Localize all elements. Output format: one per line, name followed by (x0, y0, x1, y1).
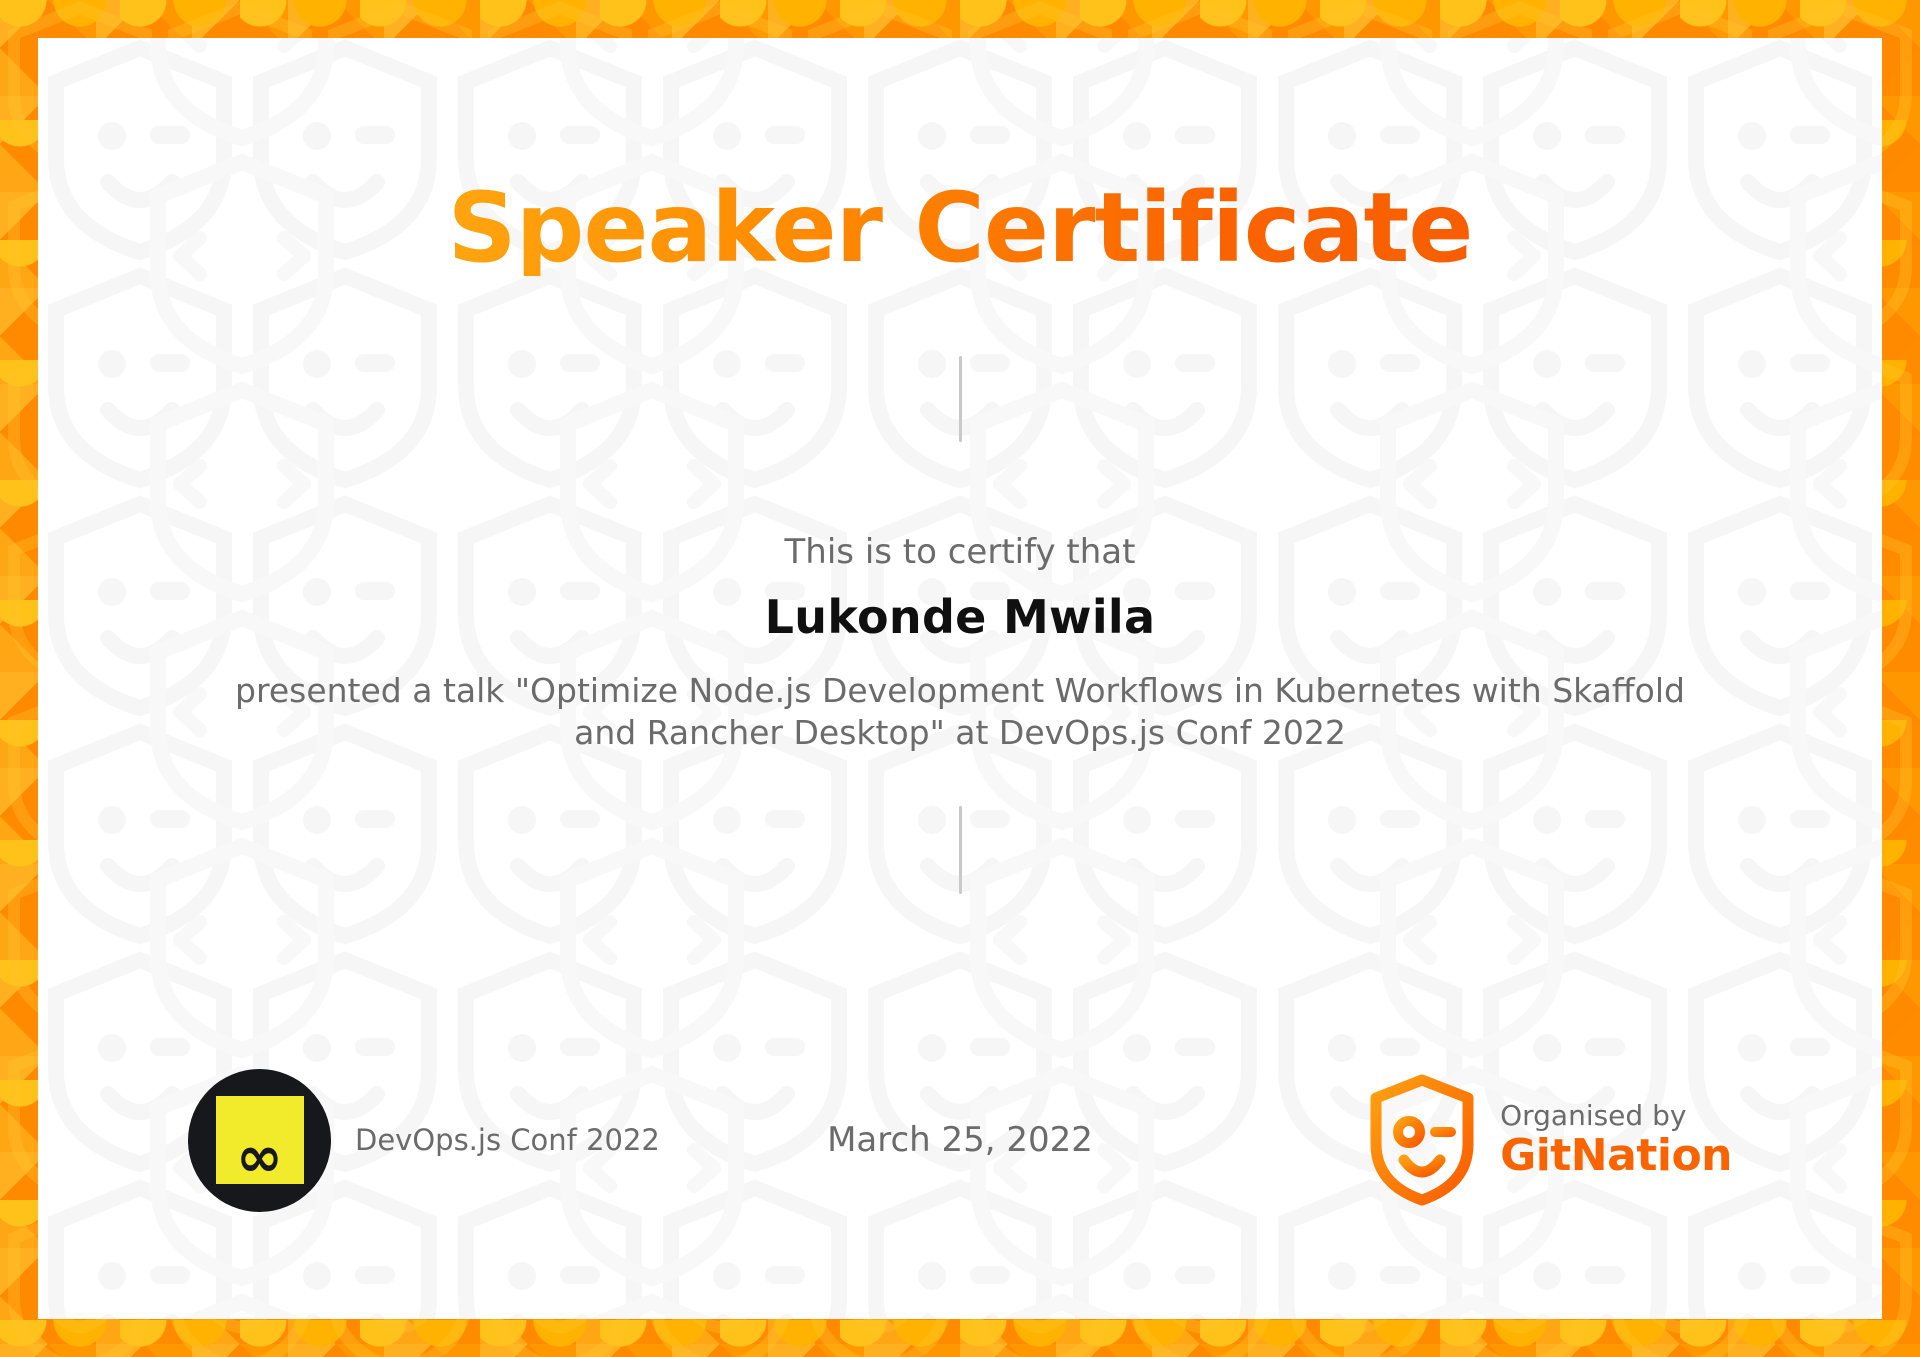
talk-statement: presented a talk "Optimize Node.js Devel… (230, 670, 1690, 754)
divider-top (959, 356, 962, 442)
certificate-footer: ∞ DevOps.js Conf 2022 March 25, 2022 (38, 1065, 1882, 1215)
organiser-name: GitNation (1500, 1131, 1732, 1180)
footer-organiser-block: Organised by GitNation (1366, 1074, 1732, 1206)
recipient-name: Lukonde Mwila (765, 590, 1156, 644)
shield-mask-icon (1366, 1074, 1478, 1206)
page-title: Speaker Certificate (448, 180, 1473, 276)
divider-bottom (959, 806, 962, 894)
certify-line: This is to certify that (785, 532, 1136, 572)
organiser-text-block: Organised by GitNation (1500, 1100, 1732, 1181)
certificate-document: Speaker Certificate This is to certify t… (0, 0, 1920, 1357)
certificate-card: Speaker Certificate This is to certify t… (38, 38, 1882, 1319)
organised-by-label: Organised by (1500, 1100, 1732, 1131)
